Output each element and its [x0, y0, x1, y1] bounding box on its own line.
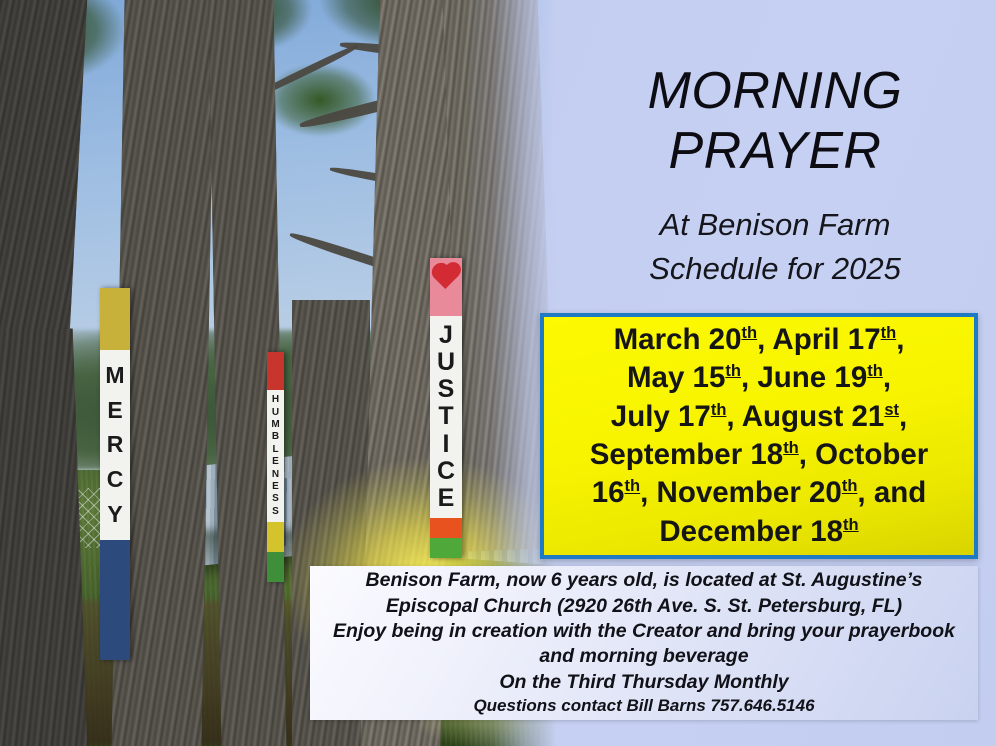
poster-canvas: M E R C Y H U M B L E N E S S [0, 0, 996, 746]
post-word-mercy: M E R C Y [100, 350, 130, 540]
post-bottom-band [267, 522, 284, 552]
info-line: On the Third Thursday Monthly [320, 670, 968, 695]
post-letter: M [271, 420, 279, 430]
schedule-date-line: December 18th [550, 513, 968, 551]
post-top-band [430, 258, 462, 316]
prayer-post-mercy: M E R C Y [100, 288, 130, 660]
post-letter: C [437, 459, 455, 484]
post-letter: J [439, 323, 453, 348]
post-letter: Y [107, 503, 122, 526]
post-word-justice: J U S T I C E [430, 316, 462, 518]
post-letter: R [107, 433, 124, 456]
post-letter: T [438, 404, 453, 429]
prayer-post-justice: J U S T I C E [430, 258, 462, 558]
page-subtitle: At Benison Farm Schedule for 2025 [560, 203, 990, 291]
post-letter: N [272, 470, 279, 480]
location-info-text: Benison Farm, now 6 years old, is locate… [310, 568, 978, 718]
location-info-box: Benison Farm, now 6 years old, is locate… [310, 566, 978, 720]
info-line: Episcopal Church (2920 26th Ave. S. St. … [320, 594, 968, 619]
subtitle-line-2: Schedule for 2025 [560, 247, 990, 291]
post-letter: B [272, 432, 279, 442]
info-line: Enjoy being in creation with the Creator… [320, 619, 968, 644]
tree-trunk [0, 328, 87, 746]
heart-icon [430, 258, 462, 296]
schedule-date-line: March 20th, April 17th, [550, 321, 968, 359]
info-line: Benison Farm, now 6 years old, is locate… [320, 568, 968, 593]
post-letter: S [272, 507, 279, 517]
title-line-2: PRAYER [560, 122, 990, 182]
post-top-band [267, 352, 284, 390]
post-letter: S [272, 494, 279, 504]
schedule-date-list: March 20th, April 17th,May 15th, June 19… [544, 321, 974, 551]
post-bottom-band [267, 552, 284, 582]
post-top-band [100, 288, 130, 350]
contact-line: Questions contact Bill Barns 757.646.514… [320, 695, 968, 718]
post-letter: C [107, 468, 124, 491]
post-bottom-band [100, 540, 130, 660]
post-bottom-band [430, 518, 462, 538]
post-word-humbleness: H U M B L E N E S S [267, 390, 284, 522]
schedule-date-line: September 18th, October [550, 436, 968, 474]
prayer-post-humbleness: H U M B L E N E S S [267, 352, 284, 582]
post-letter: I [443, 432, 450, 457]
post-letter: E [438, 486, 455, 511]
post-letter: E [272, 482, 279, 492]
post-letter: E [107, 399, 122, 422]
info-line: and morning beverage [320, 644, 968, 669]
post-letter: M [105, 364, 124, 387]
post-letter: H [272, 395, 279, 405]
schedule-date-box: March 20th, April 17th,May 15th, June 19… [540, 313, 978, 559]
page-title: MORNING PRAYER [560, 62, 990, 182]
post-letter: U [437, 350, 455, 375]
post-letter: U [272, 408, 279, 418]
title-line-1: MORNING [560, 62, 990, 122]
post-letter: L [272, 445, 278, 455]
schedule-date-line: 16th, November 20th, and [550, 474, 968, 512]
schedule-date-line: May 15th, June 19th, [550, 359, 968, 397]
schedule-date-line: July 17th, August 21st, [550, 398, 968, 436]
post-letter: E [272, 457, 279, 467]
post-letter: S [438, 377, 455, 402]
post-bottom-band [430, 538, 462, 558]
subtitle-line-1: At Benison Farm [560, 203, 990, 247]
